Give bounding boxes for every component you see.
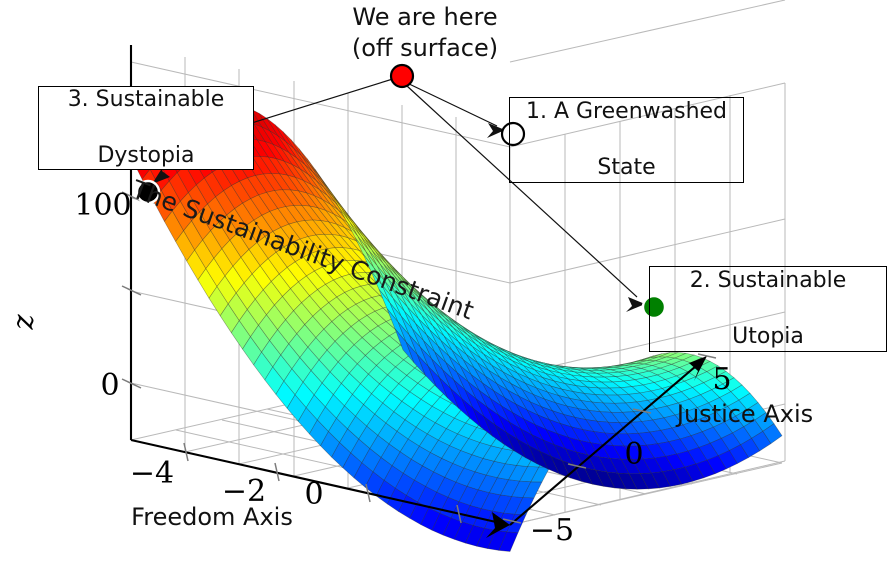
- annotation-utopia-line-1: 2. Sustainable: [684, 267, 853, 295]
- annotation-utopia-line-2: Utopia: [684, 323, 853, 351]
- leader-to-greenwashed: [405, 82, 497, 126]
- annotation-box-greenwashed-state[interactable]: 1. A Greenwashed State: [509, 97, 744, 183]
- annotation-box-sustainable-dystopia[interactable]: 3. Sustainable Dystopia: [38, 86, 254, 170]
- x-tick-label-0: 0: [304, 477, 323, 512]
- figure-canvas: The Sustainability Constraint 100 0 −4 −…: [0, 0, 888, 577]
- we-are-here-point[interactable]: [391, 65, 413, 87]
- z-tick-label-100: 100: [74, 188, 131, 223]
- x-axis-label: Freedom Axis: [131, 503, 293, 531]
- y-tick-label-minus5: −5: [530, 513, 574, 548]
- z-tick-label-0: 0: [100, 368, 119, 403]
- y-tick-label-0: 0: [624, 437, 643, 472]
- annotation-greenwashed-line-2: State: [520, 154, 733, 182]
- y-tick-label-5: 5: [712, 362, 731, 397]
- we-are-here-line-1: We are here: [332, 2, 518, 33]
- we-are-here-line-2: (off surface): [332, 33, 518, 64]
- annotation-box-sustainable-utopia[interactable]: 2. Sustainable Utopia: [649, 266, 887, 352]
- we-are-here-label: We are here (off surface): [332, 2, 518, 64]
- z-axis-label: z: [6, 314, 40, 331]
- y-axis-label: Justice Axis: [675, 400, 813, 428]
- annotation-greenwashed-line-1: 1. A Greenwashed: [520, 98, 733, 126]
- x-tick-label-minus4: −4: [130, 456, 174, 491]
- annotation-dystopia-line-2: Dystopia: [62, 142, 231, 170]
- annotation-dystopia-line-1: 3. Sustainable: [62, 86, 231, 114]
